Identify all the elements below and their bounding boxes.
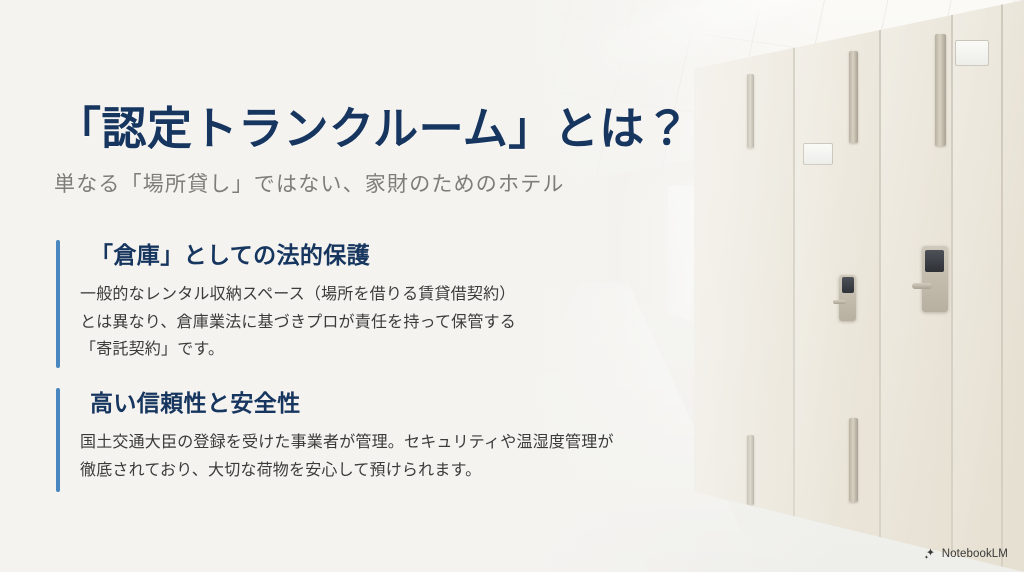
section-body: 国土交通大臣の登録を受けた事業者が管理。セキュリティや温湿度管理が 徹底されてお… [80,429,614,484]
accent-bar [56,388,60,492]
section-heading: 高い信頼性と安全性 [90,384,614,418]
section-reliability-safety: 高い信頼性と安全性 国土交通大臣の登録を受けた事業者が管理。セキュリティや温湿度… [56,384,614,484]
section-legal-protection: 「倉庫」としての法的保護 一般的なレンタル収納スペース（場所を借りる賃貸借契約）… [56,236,516,364]
notebooklm-spark-icon [924,547,937,560]
accent-bar [56,240,60,368]
notebooklm-watermark: NotebookLM [924,547,1008,560]
page-subtitle: 単なる「場所貸し」ではない、家財のためのホテル [54,168,565,198]
section-body: 一般的なレンタル収納スペース（場所を借りる賃貸借契約） とは異なり、倉庫業法に基… [80,281,516,364]
slide-content: 「認定トランクルーム」とは？ 単なる「場所貸し」ではない、家財のためのホテル 「… [0,0,1024,572]
notebooklm-label: NotebookLM [942,548,1008,560]
body-line: とは異なり、倉庫業法に基づきプロが責任を持って保管する [80,309,516,337]
body-line: 「寄託契約」です。 [80,336,516,364]
body-line: 国土交通大臣の登録を受けた事業者が管理。セキュリティや温湿度管理が [80,429,614,457]
page-title: 「認定トランクルーム」とは？ [56,92,690,157]
slide: 「認定トランクルーム」とは？ 単なる「場所貸し」ではない、家財のためのホテル 「… [0,0,1024,572]
body-line: 徹底されており、大切な荷物を安心して預けられます。 [80,457,614,485]
section-heading: 「倉庫」としての法的保護 [90,236,516,270]
body-line: 一般的なレンタル収納スペース（場所を借りる賃貸借契約） [80,281,516,309]
